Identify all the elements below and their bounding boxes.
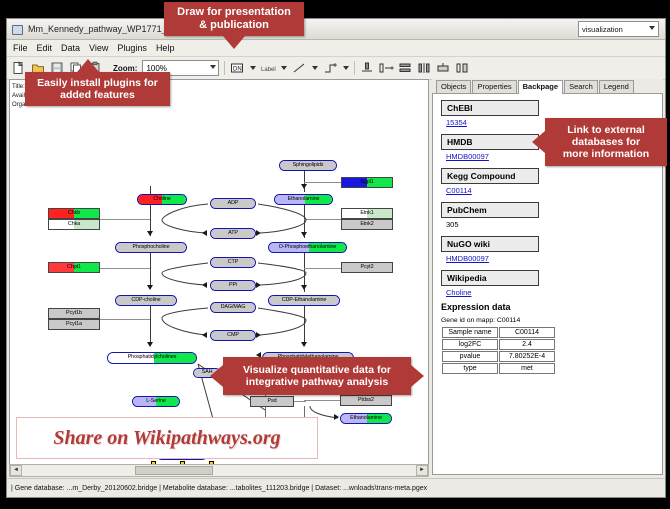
tab-search[interactable]: Search — [564, 80, 598, 93]
node-label: Pcyt2 — [361, 265, 374, 270]
screenshot-root: Mm_Kennedy_pathway_WP1771_45176.gpml Fil… — [0, 0, 670, 509]
expression-key: log2FC — [442, 339, 498, 350]
node-label: Choline — [153, 197, 171, 202]
db-name: ChEBI — [441, 100, 539, 116]
expression-row: Sample nameC00114 — [442, 327, 555, 338]
db-block-nugo-wiki: NuGO wikiHMDB00097 — [441, 234, 662, 263]
gene-node-etnk1[interactable]: Etnk1 — [341, 208, 393, 219]
metabolite-node-lserine_left[interactable]: L-Serine — [132, 396, 180, 407]
chevron-down-icon — [210, 65, 216, 69]
node-label: Phosphatidylcholines — [128, 355, 177, 360]
metabolite-node-ethanolamine_bottom[interactable]: Ethanolamine — [340, 413, 392, 424]
arrow-icon — [256, 282, 261, 288]
gene-node-chkb[interactable]: Chkb — [48, 208, 100, 219]
node-label: Etnk1 — [360, 211, 373, 216]
distribute-icon[interactable] — [417, 61, 431, 75]
arrow-icon — [256, 332, 261, 338]
menu-item-data[interactable]: Data — [61, 43, 80, 53]
menu-item-plugins[interactable]: Plugins — [117, 43, 147, 53]
callout-draw-text: Draw for presentation& publication — [177, 6, 291, 31]
menu-item-edit[interactable]: Edit — [37, 43, 53, 53]
callout-visualize-text: Visualize quantitative data forintegrati… — [243, 364, 391, 388]
db-block-kegg-compound: Kegg CompoundC00114 — [441, 166, 662, 195]
expression-value: met — [499, 363, 555, 374]
node-label: Pcyt1b — [66, 311, 82, 316]
node-label: Psd — [268, 399, 277, 404]
arrow-icon — [202, 230, 207, 236]
db-block-wikipedia: WikipediaCholine — [441, 268, 662, 297]
node-label: O-Phosphoethanolamine — [279, 245, 337, 250]
gene-node-pcyt1a[interactable]: Pcyt1a — [48, 319, 100, 330]
node-label: ATP — [228, 231, 238, 236]
tab-objects[interactable]: Objects — [436, 80, 471, 93]
node-label: Chkb — [68, 211, 80, 216]
metabolite-node-cdpethanolamine[interactable]: CDP-Ethanolamine — [268, 295, 340, 306]
new-file-icon[interactable] — [12, 61, 26, 75]
gene-node-pcyt2[interactable]: Pcyt2 — [341, 262, 393, 273]
expression-key: pvalue — [442, 351, 498, 362]
connector-icon[interactable] — [323, 61, 337, 75]
expression-value: C00114 — [499, 327, 555, 338]
window-titlebar: Mm_Kennedy_pathway_WP1771_45176.gpml — [7, 19, 665, 40]
datanode-icon[interactable]: DN — [230, 61, 244, 75]
chevron-down-icon[interactable] — [281, 66, 287, 70]
chevron-down-icon[interactable] — [250, 66, 256, 70]
node-label: ADP — [228, 201, 239, 206]
callout-plugins-pointer — [77, 59, 99, 72]
gene-id-line: Gene id on mapp: C00114 — [441, 317, 662, 324]
expression-row: typemet — [442, 363, 555, 374]
node-label: PPi — [229, 283, 237, 288]
arrow-icon — [202, 332, 207, 338]
menu-bar: File Edit Data View Plugins Help — [7, 40, 665, 57]
metabolite-node-ctp[interactable]: CTP — [210, 257, 256, 268]
status-text: | Gene database: ...m_Derby_20120602.bri… — [7, 485, 427, 492]
status-bar: | Gene database: ...m_Derby_20120602.bri… — [7, 478, 665, 497]
callout-visualize-pointer-left — [210, 365, 223, 387]
gene-node-chka[interactable]: Chka — [48, 219, 100, 230]
node-label: L-Serine — [146, 399, 166, 404]
db-link[interactable]: HMDB00097 — [446, 254, 662, 263]
node-label: Sgpl1 — [360, 180, 373, 185]
ungroup-icon[interactable] — [455, 61, 469, 75]
gene-node-chpt1[interactable]: Chpt1 — [48, 262, 100, 273]
expression-table: Sample nameC00114log2FC2.4pvalue7.80252E… — [441, 326, 556, 375]
node-label: Sphingolipids — [293, 163, 324, 168]
node-label: Ethanolamine — [288, 197, 320, 202]
group-icon[interactable] — [436, 61, 450, 75]
db-name: Wikipedia — [441, 270, 539, 286]
metabolite-node-ethanolamine_top[interactable]: Ethanolamine — [274, 194, 333, 205]
gene-node-pcyt1b[interactable]: Pcyt1b — [48, 308, 100, 319]
callout-visualize: Visualize quantitative data forintegrati… — [223, 357, 411, 395]
expression-row: pvalue7.80252E-4 — [442, 351, 555, 362]
node-label: Pcyt1a — [66, 322, 82, 327]
expression-key: type — [442, 363, 498, 374]
expression-key: Sample name — [442, 327, 498, 338]
node-label: Chpt1 — [67, 265, 81, 270]
arrow-icon — [256, 230, 261, 236]
callout-share-text: Share on Wikipathways.org — [53, 427, 280, 450]
db-name: Kegg Compound — [441, 168, 539, 184]
canvas-hscrollbar[interactable]: ◄ ► — [9, 464, 429, 477]
node-label: DAG/MAG — [221, 305, 246, 310]
chevron-down-icon — [649, 26, 655, 30]
db-link[interactable]: Choline — [446, 288, 662, 297]
callout-draw: Draw for presentation& publication — [164, 2, 304, 36]
arrow-icon — [334, 414, 339, 420]
gene-node-psd[interactable]: Psd — [250, 396, 294, 407]
callout-share: Share on Wikipathways.org — [16, 417, 318, 459]
db-name: HMDB — [441, 134, 539, 150]
expression-value: 7.80252E-4 — [499, 351, 555, 362]
line-icon[interactable] — [292, 61, 306, 75]
visualization-select[interactable]: visualization — [578, 21, 659, 37]
expression-row: log2FC2.4 — [442, 339, 555, 350]
db-value: 305 — [446, 220, 662, 229]
callout-links: Link to externaldatabases formore inform… — [545, 118, 667, 166]
svg-text:Label: Label — [261, 67, 276, 73]
arrow-icon — [202, 282, 207, 288]
node-label: Ethanolamine — [350, 416, 382, 421]
callout-plugins-text: Easily install plugins foradded features — [37, 77, 158, 101]
metabolite-node-ppi[interactable]: PPi — [210, 280, 256, 291]
db-link[interactable]: C00114 — [446, 186, 662, 195]
expression-value: 2.4 — [499, 339, 555, 350]
metabolite-node-dagmag[interactable]: DAG/MAG — [210, 302, 256, 313]
node-label: Chka — [68, 222, 80, 227]
metabolite-node-phosphocholine[interactable]: Phosphocholine — [115, 242, 187, 253]
metabolite-node-atp[interactable]: ATP — [210, 228, 256, 239]
svg-text:DN: DN — [233, 67, 242, 73]
node-label: CMP — [227, 333, 239, 338]
expression-heading: Expression data — [441, 302, 662, 312]
pathway-canvas[interactable]: Title: Availa Organi — [9, 79, 429, 475]
order-icon[interactable] — [379, 61, 393, 75]
node-label: CTP — [228, 260, 238, 265]
metabolite-node-cdpcholine[interactable]: CDP-choline — [115, 295, 177, 306]
metabolite-node-sphingolipids[interactable]: Sphingolipids — [279, 160, 337, 171]
callout-visualize-pointer-right — [411, 365, 424, 387]
toolbar-separator — [224, 61, 225, 75]
align-icon[interactable] — [360, 61, 374, 75]
gene-node-sgpl1[interactable]: Sgpl1 — [341, 177, 393, 188]
metabolite-node-adp[interactable]: ADP — [210, 198, 256, 209]
metabolite-node-phosphatidylcholines[interactable]: Phosphatidylcholines — [107, 352, 197, 364]
gene-node-ptdss2[interactable]: Ptdss2 — [340, 395, 392, 406]
callout-links-pointer — [532, 131, 545, 153]
tab-properties[interactable]: Properties — [472, 80, 516, 93]
menu-item-help[interactable]: Help — [156, 43, 175, 53]
tab-legend[interactable]: Legend — [599, 80, 634, 93]
side-panel-tabs: ObjectsPropertiesBackpageSearchLegend — [432, 79, 663, 94]
label-icon[interactable]: Label — [261, 61, 275, 75]
callout-links-text: Link to externaldatabases formore inform… — [563, 124, 649, 160]
db-name: PubChem — [441, 202, 539, 218]
db-block-pubchem: PubChem305 — [441, 200, 662, 229]
metabolite-node-cmp[interactable]: CMP — [210, 330, 256, 341]
menu-item-view[interactable]: View — [89, 43, 108, 53]
scroll-thumb[interactable] — [135, 466, 212, 475]
gene-node-etnk2[interactable]: Etnk2 — [341, 219, 393, 230]
toolbar-separator — [354, 61, 355, 75]
callout-plugins: Easily install plugins foradded features — [25, 72, 170, 106]
chevron-down-icon[interactable] — [343, 66, 349, 70]
node-label: CDP-choline — [131, 298, 160, 303]
node-label: CDP-Ethanolamine — [282, 298, 327, 303]
metabolite-node-choline_top[interactable]: Choline — [137, 194, 187, 205]
node-label: Ptdss2 — [358, 398, 374, 403]
tab-backpage[interactable]: Backpage — [518, 80, 563, 94]
callout-draw-pointer — [223, 36, 245, 49]
node-label: Phosphocholine — [133, 245, 170, 250]
metabolite-node-ophosphoethanolamine[interactable]: O-Phosphoethanolamine — [268, 242, 347, 253]
visualization-value: visualization — [582, 25, 623, 34]
scroll-right-button[interactable]: ► — [416, 465, 428, 476]
menu-item-file[interactable]: File — [13, 43, 28, 53]
db-name: NuGO wiki — [441, 236, 539, 252]
stack-icon[interactable] — [398, 61, 412, 75]
chevron-down-icon[interactable] — [312, 66, 318, 70]
node-label: Etnk2 — [360, 222, 373, 227]
pathvisio-icon — [11, 23, 23, 35]
scroll-left-button[interactable]: ◄ — [10, 465, 22, 476]
